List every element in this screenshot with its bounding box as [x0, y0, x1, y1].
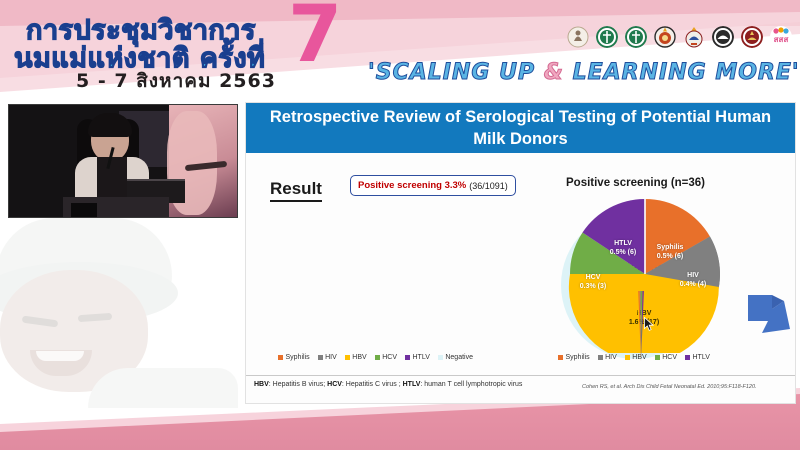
pie-label-syphilis-value: 0.5% (6)	[657, 253, 683, 260]
legend-left: Syphilis HIV HBV HCV HTLV Negative	[278, 354, 473, 361]
footnote-hbv-key: HBV	[254, 381, 269, 388]
pie-label-hcv-value: 0.3% (3)	[580, 283, 606, 290]
logo-thaihealth-sss: สสส	[769, 26, 793, 48]
callout-highlight-text: Positive screening 3.3%	[358, 180, 466, 191]
logo-breastfeeding-foundation	[566, 26, 590, 48]
logo-ministry-public-health-1	[595, 26, 619, 48]
pie-label-hcv-name: HCV	[586, 274, 601, 281]
slogan-text-part1: 'SCALING UP	[368, 60, 544, 85]
legend-left-item-hbv: HBV	[345, 354, 367, 361]
positive-screening-pie-title: Positive screening (n=36)	[566, 177, 705, 189]
pie-label-hcv: HCV 0.3% (3)	[570, 273, 616, 291]
slogan-text-part2: LEARNING MORE'	[564, 60, 800, 85]
podium-panel	[71, 203, 97, 217]
footnote-hcv-value: : Hepatitis C virus ;	[342, 381, 403, 388]
pie-label-htlv-value: 0.5% (6)	[610, 249, 636, 256]
mouse-cursor-icon	[644, 317, 655, 332]
logo-university	[711, 26, 735, 48]
legend-left-item-hcv: HCV	[375, 354, 397, 361]
conference-slogan: 'SCALING UP & LEARNING MORE'	[368, 60, 800, 85]
positive-screening-callout: Positive screening 3.3% (36/1091)	[350, 175, 516, 196]
legend-right-item-hiv: HIV	[598, 354, 617, 361]
logo-medical-council	[740, 26, 764, 48]
footnote-htlv-key: HTLV	[403, 381, 421, 388]
pie-label-syphilis-name: Syphilis	[657, 244, 684, 251]
flow-arrow-icon	[746, 291, 796, 341]
pie-label-hiv-name: HIV	[687, 272, 699, 279]
footer-divider	[246, 375, 795, 376]
legend-right-item-hcv: HCV	[655, 354, 677, 361]
legend-left-item-syphilis: Syphilis	[278, 354, 310, 361]
abbreviation-footnote: HBV: Hepatitis B virus; HCV: Hepatitis C…	[254, 381, 522, 388]
pie-label-htlv: HTLV 0.5% (6)	[598, 239, 648, 257]
pie-label-hiv-value: 0.4% (4)	[680, 281, 706, 288]
legend-right-item-htlv: HTLV	[685, 354, 710, 361]
result-heading: Result	[270, 179, 322, 202]
logo-ministry-public-health-2	[624, 26, 648, 48]
slide-title: Retrospective Review of Serological Test…	[246, 103, 795, 153]
legend-left-item-negative: Negative	[438, 354, 473, 361]
pie-label-syphilis: Syphilis 0.5% (6)	[644, 243, 696, 261]
conference-date: 5 - 7 สิงหาคม 2563	[76, 66, 276, 96]
legend-left-item-hiv: HIV	[318, 354, 337, 361]
callout-detail-text: (36/1091)	[469, 181, 508, 191]
logo-royal-emblem	[682, 26, 706, 48]
baby-watermark-image	[0, 218, 240, 408]
slide-citation: Cohen RS, et al. Arch Dis Child Fetal Ne…	[582, 384, 757, 390]
footnote-hcv-key: HCV	[327, 381, 342, 388]
sponsor-logo-strip: สสส	[566, 26, 793, 48]
slogan-ampersand: &	[544, 60, 564, 85]
footnote-hbv-value: : Hepatitis B virus;	[269, 381, 327, 388]
legend-right-item-syphilis: Syphilis	[558, 354, 590, 361]
presenter-video-thumbnail[interactable]	[8, 104, 238, 218]
pie-label-htlv-name: HTLV	[614, 240, 632, 247]
presentation-slide[interactable]: Retrospective Review of Serological Test…	[245, 102, 796, 404]
conference-edition-number: 7	[288, 0, 342, 74]
footnote-htlv-value: : human T cell lymphotropic virus	[420, 381, 522, 388]
legend-left-item-htlv: HTLV	[405, 354, 430, 361]
svg-text:สสส: สสส	[774, 35, 789, 44]
pie-label-hiv: HIV 0.4% (4)	[670, 271, 716, 289]
logo-royal-college	[653, 26, 677, 48]
